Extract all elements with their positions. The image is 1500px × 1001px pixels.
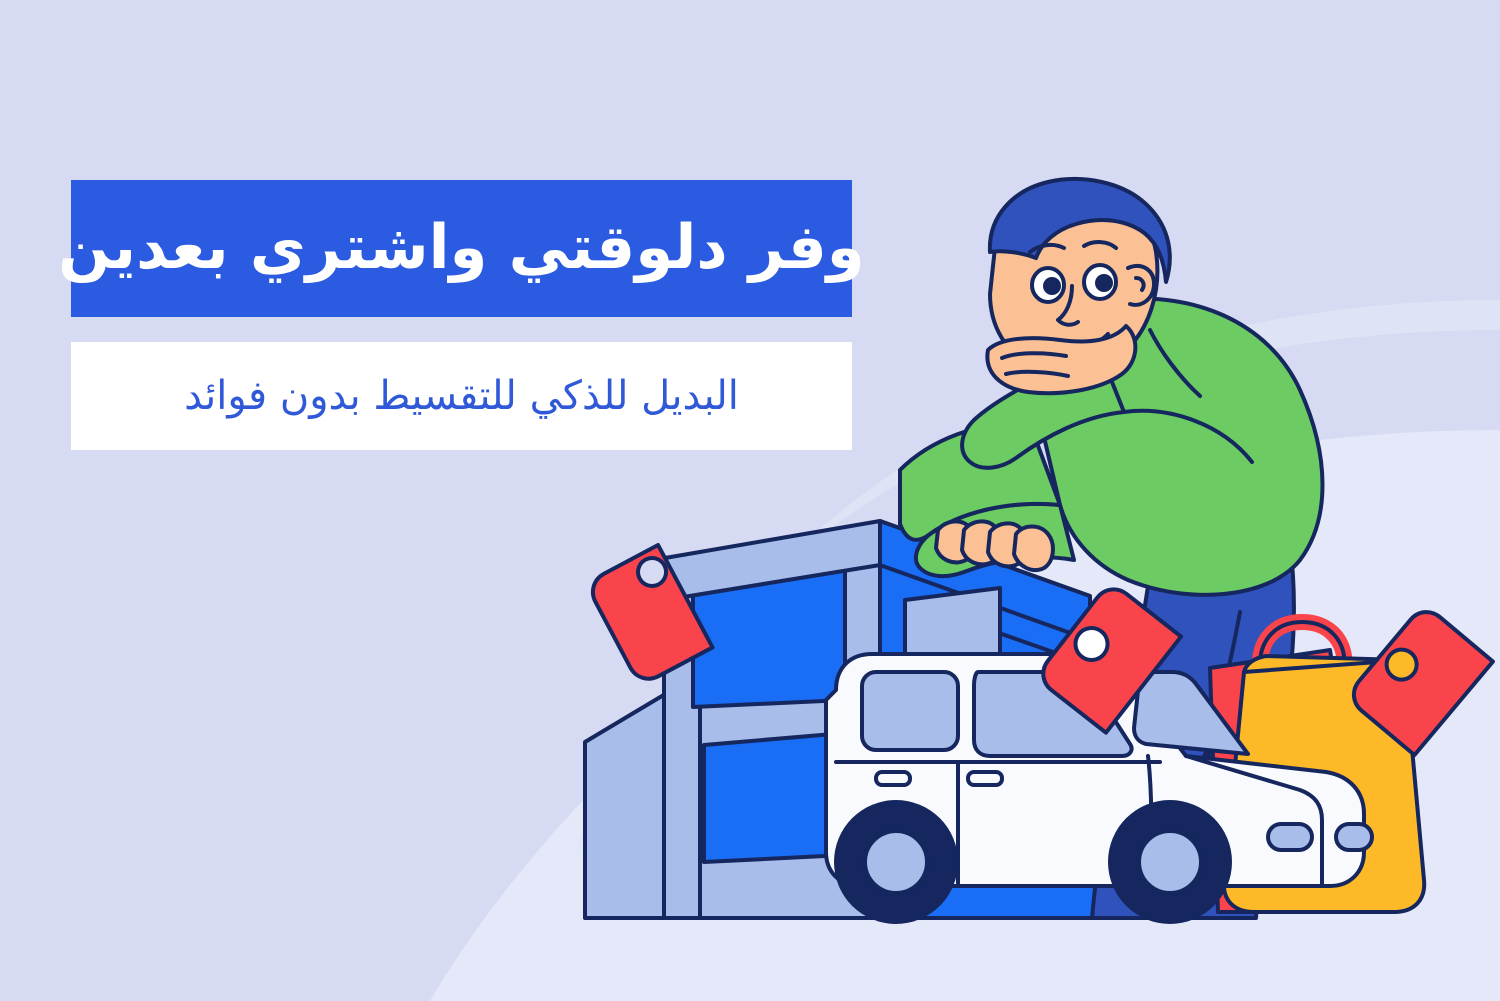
car-headlight-outer xyxy=(1336,824,1372,850)
car-window-rear xyxy=(862,672,958,750)
pupil-right xyxy=(1095,274,1113,292)
pupil-left xyxy=(1043,277,1061,295)
scene-illustration xyxy=(0,0,1500,1001)
appliance-panel-left xyxy=(585,690,672,918)
subheadline-text: البديل للذكي للتقسيط بدون فوائد xyxy=(184,375,739,417)
car-rim-rear xyxy=(865,831,927,893)
ear xyxy=(1128,266,1154,305)
car-rim-front xyxy=(1139,831,1201,893)
appliance-window-lower xyxy=(704,733,845,862)
headline-text: وفر دلوقتي واشتري بعدين xyxy=(58,216,864,280)
headline-bar: وفر دلوقتي واشتري بعدين xyxy=(71,180,852,317)
finger-4 xyxy=(1014,527,1053,571)
hand-gripping xyxy=(936,521,1053,570)
subheadline-bar: البديل للذكي للتقسيط بدون فوائد xyxy=(71,342,852,450)
car-handle-rear xyxy=(876,772,910,785)
car-headlight-inner xyxy=(1268,824,1312,850)
promo-banner: وفر دلوقتي واشتري بعدين البديل للذكي للت… xyxy=(0,0,1500,1001)
car-handle-front xyxy=(968,772,1002,785)
copy-block: وفر دلوقتي واشتري بعدين البديل للذكي للت… xyxy=(71,180,852,450)
